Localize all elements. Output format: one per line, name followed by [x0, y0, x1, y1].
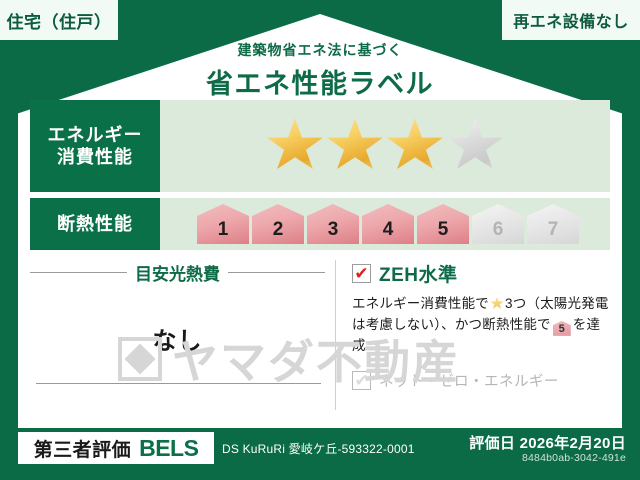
label-content: エネルギー 消費性能 断熱性能 1234567 目安光熱費 なし [30, 100, 610, 418]
label-footer: 第三者評価 BELS DS KuRuRi 愛岐ケ丘-593322-0001 評価… [0, 430, 640, 480]
utility-cost-column: 目安光熱費 なし [30, 260, 335, 410]
energy-label-root: 住宅（住戸） 再エネ設備なし 建築物省エネ法に基づく 省エネ性能ラベル エネルギ… [0, 0, 640, 480]
evaluation-date: 評価日 2026年2月20日 [469, 432, 626, 453]
utility-cost-value: なし [30, 321, 325, 356]
energy-label-line1: エネルギー [48, 124, 143, 147]
mini-star-icon [490, 297, 504, 310]
insulation-grade-4: 4 [362, 204, 414, 244]
insulation-label-line1: 断熱性能 [57, 213, 133, 236]
energy-star-2 [326, 118, 384, 174]
bels-third-party-label: 第三者評価 [34, 435, 132, 462]
bels-plate: 第三者評価 BELS [18, 432, 214, 464]
energy-star-3 [386, 118, 444, 174]
insulation-grade-6: 6 [472, 204, 524, 244]
zeh-title-row: ✔ ZEH水準 [352, 260, 610, 287]
energy-label-line2: 消費性能 [57, 146, 133, 169]
rule-right [228, 272, 325, 273]
badge-renewable-energy: 再エネ設備なし [502, 0, 640, 40]
energy-performance-label: エネルギー 消費性能 [30, 100, 160, 192]
label-title-block: 建築物省エネ法に基づく 省エネ性能ラベル [0, 40, 640, 101]
utility-cost-underline [36, 383, 321, 384]
zeh-desc-part2: は考慮しない）、かつ断熱性能で [352, 317, 551, 332]
mini-house-icon: 5 [553, 321, 571, 336]
zeh-column: ✔ ZEH水準 エネルギー消費性能で3つ（太陽光発電は考慮しない）、かつ断熱性能… [335, 260, 610, 410]
zeh-title: ZEH水準 [379, 260, 458, 287]
energy-star-4 [446, 118, 504, 174]
utility-cost-heading-row: 目安光熱費 [30, 260, 325, 285]
energy-star-rating [160, 100, 610, 192]
title-subtitle: 建築物省エネ法に基づく [0, 40, 640, 60]
zeh-description: エネルギー消費性能で3つ（太陽光発電は考慮しない）、かつ断熱性能で5を達成 [352, 294, 610, 357]
insulation-performance-label: 断熱性能 [30, 198, 160, 250]
zeh-desc-part1: エネルギー消費性能で [352, 296, 489, 311]
insulation-performance-row: 断熱性能 1234567 [30, 198, 610, 250]
insulation-grade-scale: 1234567 [160, 198, 610, 250]
nze-row: ✔ ネット・ゼロ・エネルギー [352, 370, 610, 391]
insulation-grade-5: 5 [417, 204, 469, 244]
insulation-grade-3: 3 [307, 204, 359, 244]
insulation-grade-2: 2 [252, 204, 304, 244]
utility-cost-heading: 目安光熱費 [135, 260, 220, 285]
insulation-grade-1: 1 [197, 204, 249, 244]
project-name: DS KuRuRi 愛岐ケ丘-593322-0001 [222, 440, 415, 457]
energy-star-1 [266, 118, 324, 174]
title-main: 省エネ性能ラベル [0, 62, 640, 101]
nze-checkbox-unchecked-icon: ✔ [352, 371, 371, 390]
energy-performance-row: エネルギー 消費性能 [30, 100, 610, 192]
badge-building-type: 住宅（住戸） [0, 0, 118, 40]
zeh-desc-star-count: 3つ（太陽光発電 [505, 296, 609, 311]
evaluation-id: 8484b0ab-3042-491e [522, 452, 626, 464]
bels-logo-text: BELS [139, 435, 198, 462]
lower-section: 目安光熱費 なし ✔ ZEH水準 エネルギー消費性能で3つ（太陽光発電は考慮しな… [30, 260, 610, 410]
nze-label: ネット・ゼロ・エネルギー [379, 370, 559, 391]
zeh-checkbox-checked-icon: ✔ [352, 264, 371, 283]
rule-left [30, 272, 127, 273]
insulation-grade-7: 7 [527, 204, 579, 244]
